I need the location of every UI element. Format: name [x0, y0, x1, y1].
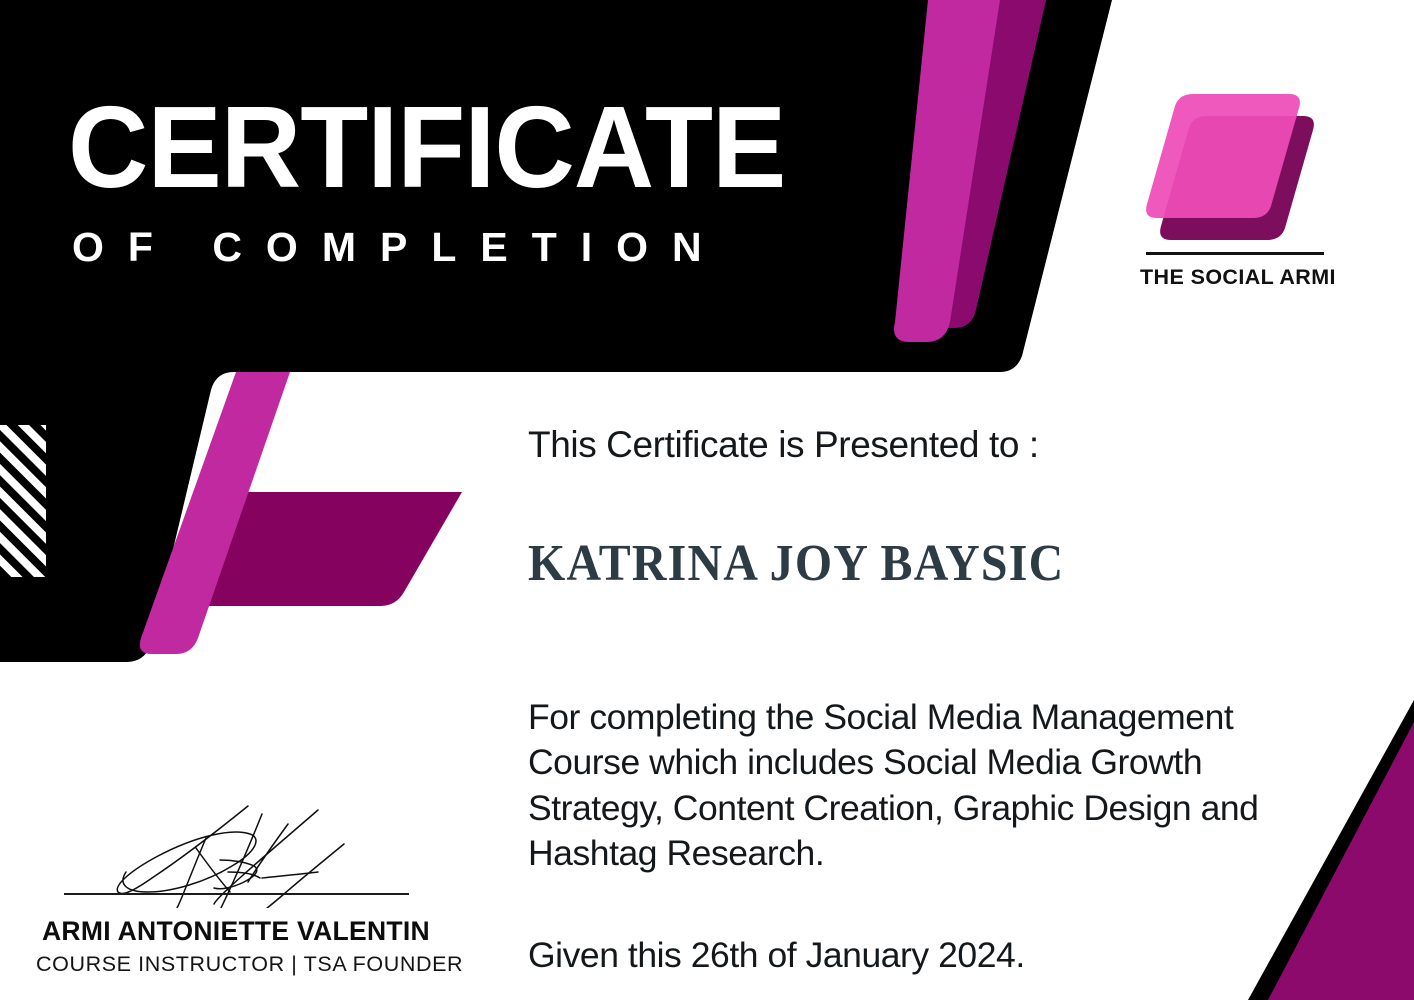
brand-logo-block: THE SOCIAL ARMI	[1140, 88, 1330, 290]
stacked-parallelograms-icon	[1145, 88, 1325, 248]
brand-name: THE SOCIAL ARMI	[1140, 265, 1330, 290]
recipient-name: KATRINA JOY BAYSIC	[528, 533, 1350, 592]
signer-role: COURSE INSTRUCTOR | TSA FOUNDER	[36, 952, 436, 977]
diagonal-stripe-block	[0, 425, 46, 577]
page-subtitle: OF COMPLETION	[72, 224, 868, 271]
issue-date-line: Given this 26th of January 2024.	[528, 935, 1318, 976]
certificate-page: CERTIFICATE OF COMPLETION THE SOCIAL ARM…	[0, 0, 1414, 1000]
handwritten-signature-icon	[56, 800, 416, 908]
title-block: CERTIFICATE OF COMPLETION	[68, 92, 868, 271]
logo-divider	[1146, 252, 1324, 255]
certificate-body: This Certificate is Presented to : KATRI…	[528, 424, 1318, 976]
presented-to-label: This Certificate is Presented to :	[528, 424, 1318, 466]
logo-mark	[1145, 88, 1325, 248]
signature-mark	[56, 800, 416, 908]
signer-name: ARMI ANTONIETTE VALENTIN	[36, 916, 436, 947]
page-title: CERTIFICATE	[68, 92, 836, 202]
completion-description: For completing the Social Media Manageme…	[528, 695, 1308, 877]
signature-block: ARMI ANTONIETTE VALENTIN COURSE INSTRUCT…	[36, 800, 436, 977]
signature-divider	[64, 893, 409, 895]
